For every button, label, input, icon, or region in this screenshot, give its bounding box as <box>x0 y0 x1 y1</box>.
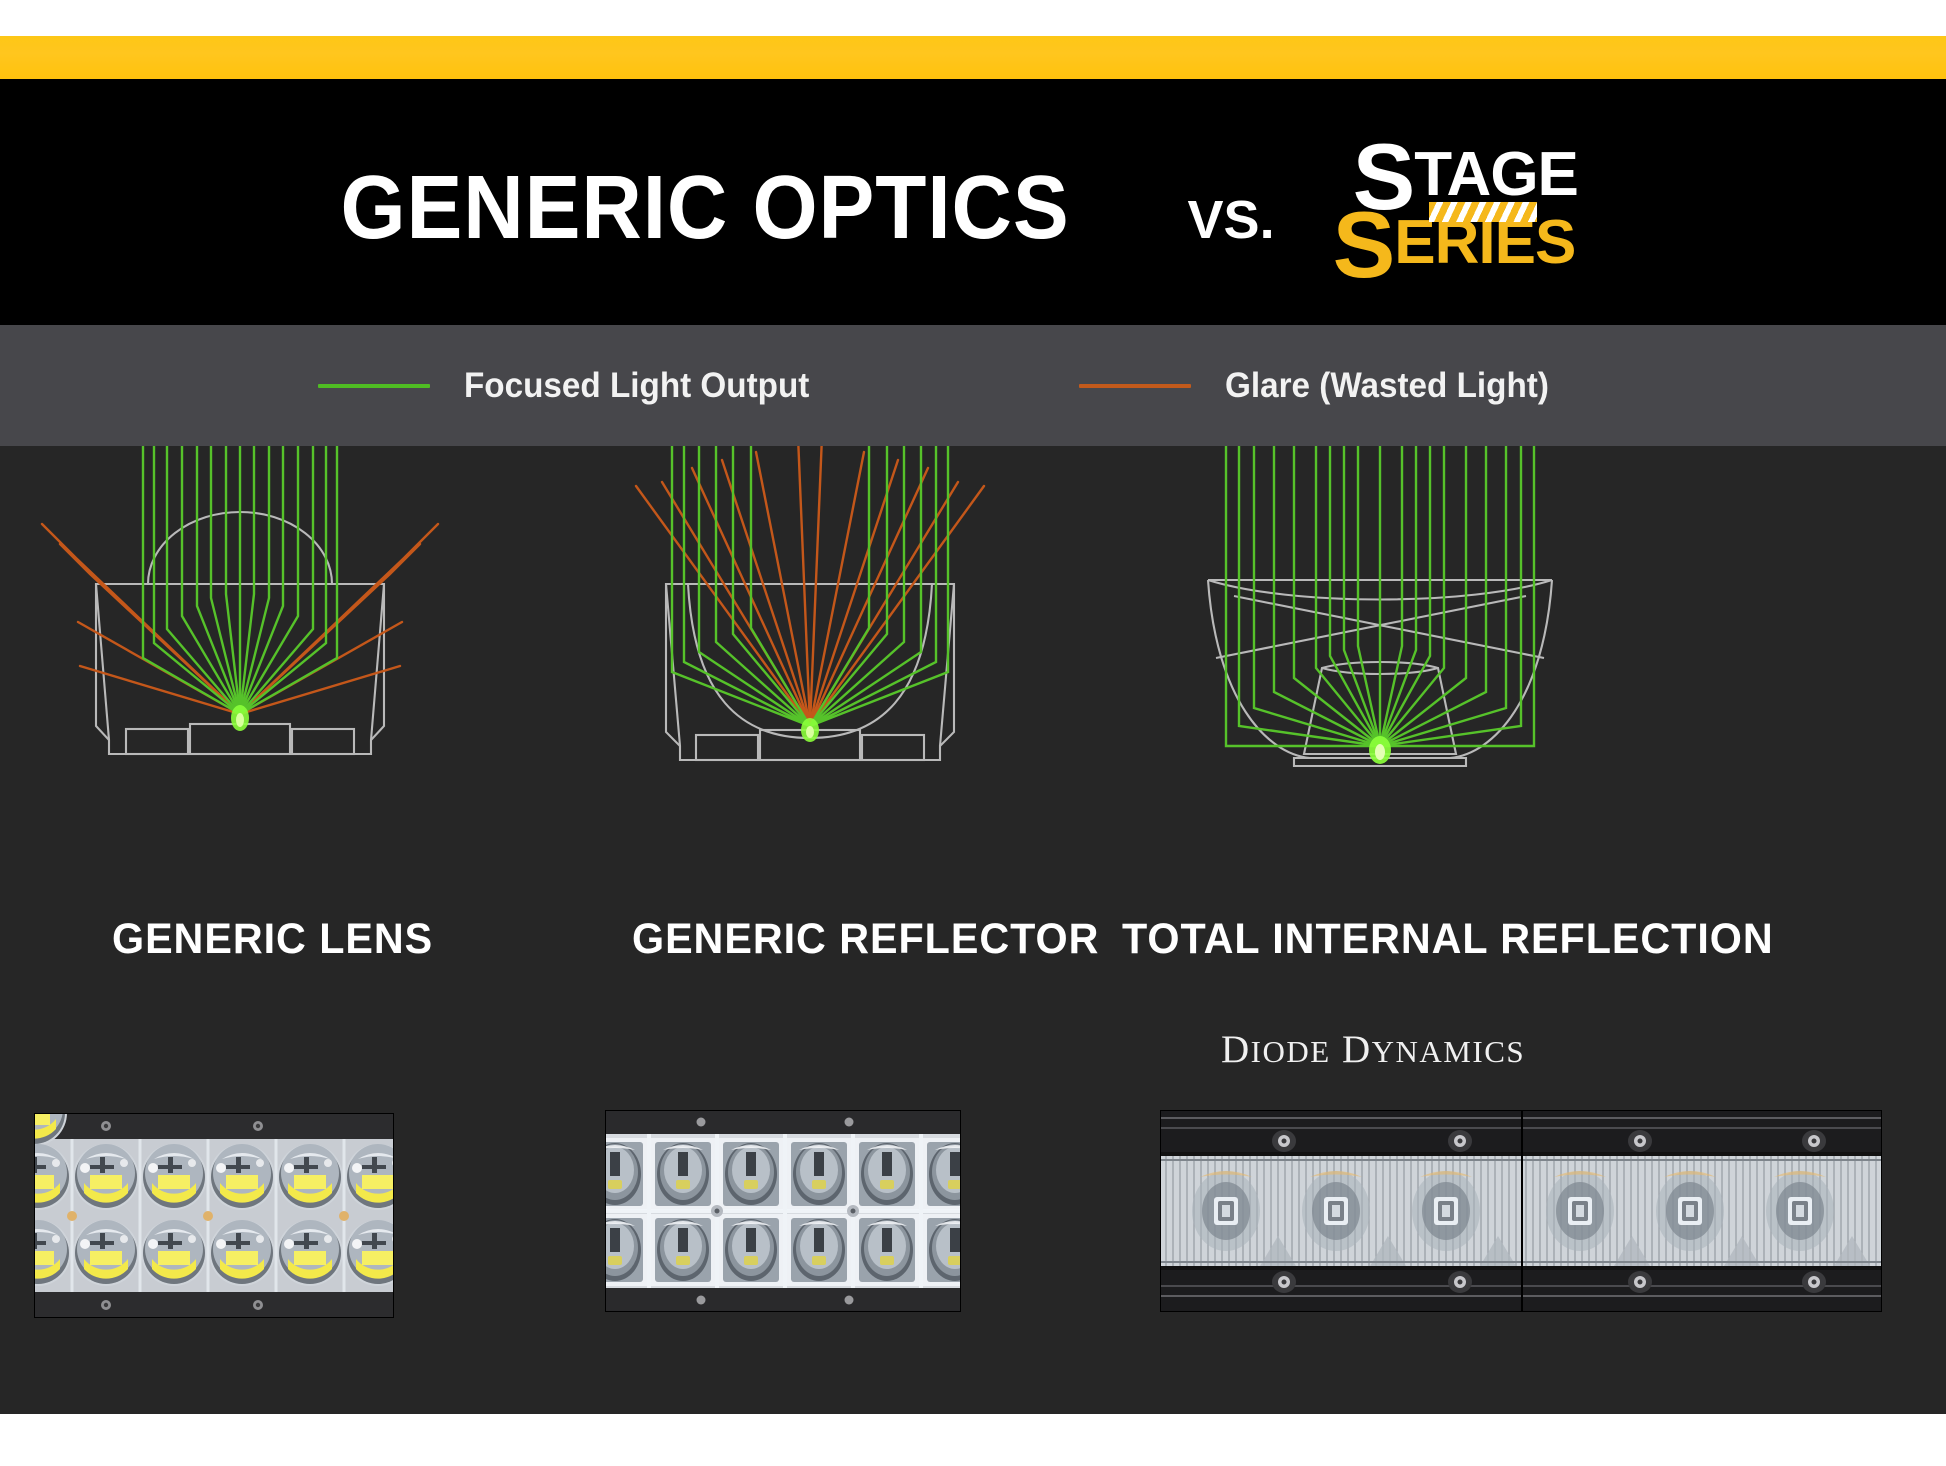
caption-generic-reflector: GENERIC REFLECTOR <box>632 915 1099 964</box>
caption-total-internal-reflection: TOTAL INTERNAL REFLECTION <box>1122 915 1774 964</box>
legend-item-glare: Glare (Wasted Light) <box>1079 366 1566 406</box>
legend-band: Focused Light Output Glare (Wasted Light… <box>0 325 1946 446</box>
caption-generic-lens: GENERIC LENS <box>112 915 433 964</box>
brand-d1: D <box>1221 1028 1251 1071</box>
generic-reflector-led-bar-photo <box>605 1110 961 1312</box>
orange-line-swatch-icon <box>1079 384 1191 388</box>
stage-series-tir-led-bar-photo-continued <box>1522 1110 1882 1312</box>
generic-lens-ray-diagram <box>30 446 450 806</box>
stage-series-logo: STAGE SERIES <box>1333 130 1633 280</box>
bottom-white-strip <box>0 1414 1946 1466</box>
green-line-swatch-icon <box>318 384 430 388</box>
logo-stripes-icon <box>1429 202 1537 222</box>
legend-label-glare: Glare (Wasted Light) <box>1225 366 1549 406</box>
tir-optic-ray-diagram <box>1170 446 1590 806</box>
infographic-page: GENERIC OPTICS VS. STAGE SERIES Focused … <box>0 0 1946 1466</box>
versus-label: VS. <box>1188 157 1275 247</box>
top-white-strip <box>0 0 1946 36</box>
brand-iode: IODE <box>1251 1034 1331 1069</box>
stage-series-tir-led-bar-photo <box>1160 1110 1522 1312</box>
header-banner: GENERIC OPTICS VS. STAGE SERIES <box>0 79 1946 325</box>
page-title: GENERIC OPTICS <box>341 151 1070 253</box>
legend-items: Focused Light Output Glare (Wasted Light… <box>0 366 1946 406</box>
brand-d2: D <box>1342 1028 1372 1071</box>
brand-ynamics: YNAMICS <box>1372 1034 1525 1069</box>
legend-label-focused: Focused Light Output <box>464 366 809 406</box>
ray-diagrams-row <box>0 446 1946 806</box>
diode-dynamics-wordmark: DIODE DYNAMICS <box>1221 1027 1525 1072</box>
header-title-row: GENERIC OPTICS VS. STAGE SERIES <box>0 79 1946 325</box>
legend-item-focused: Focused Light Output <box>318 366 828 406</box>
yellow-accent-bar <box>0 36 1946 79</box>
logo-series-cap: S <box>1333 192 1395 297</box>
generic-lens-led-bar-photo <box>34 1113 394 1318</box>
generic-reflector-ray-diagram <box>600 446 1020 806</box>
